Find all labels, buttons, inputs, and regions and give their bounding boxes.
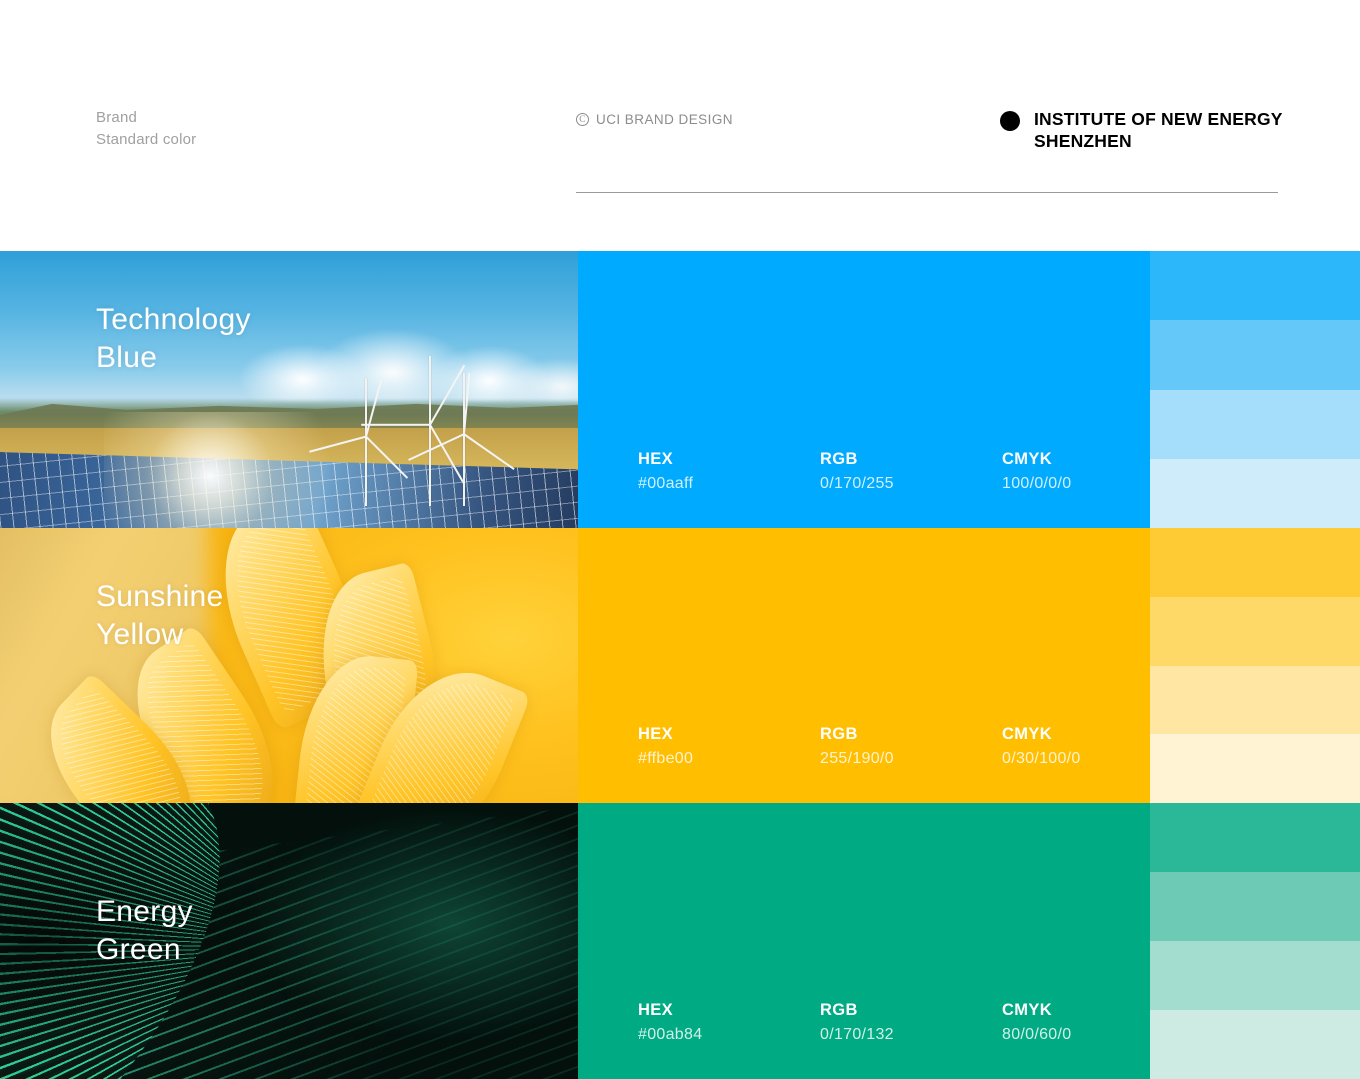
color-photo-technology-blue: Technology Blue [0,251,578,528]
institute-logo: INSTITUTE OF NEW ENERGY SHENZHEN [1000,108,1283,153]
brand-title-line1: Brand [96,107,196,129]
spec-rgb-value: 0/170/255 [820,472,1002,496]
page-header: Brand Standard color C UCI BRAND DESIGN … [0,0,1360,251]
spec-rgb: RGB 0/170/255 [820,448,1002,496]
copyright-text: UCI BRAND DESIGN [596,112,733,127]
spec-rgb-label: RGB [820,999,1002,1023]
spec-rgb-label: RGB [820,723,1002,747]
copyright-notice: C UCI BRAND DESIGN [576,112,733,127]
color-row-technology-blue: Technology Blue HEX #00aaff RGB 0/170/25… [0,251,1360,528]
color-name-line1: Sunshine [96,578,224,616]
spec-cmyk-value: 80/0/60/0 [1002,1023,1184,1047]
spec-hex: HEX #00ab84 [638,999,820,1047]
spec-hex-label: HEX [638,723,820,747]
brand-title-block: Brand Standard color [96,107,196,151]
tint-swatch[interactable] [1150,872,1360,941]
color-name-line1: Technology [96,301,251,339]
spec-hex: HEX #ffbe00 [638,723,820,771]
color-swatch-energy-green[interactable]: HEX #00ab84 RGB 0/170/132 CMYK 80/0/60/0 [578,803,1150,1079]
copyright-icon: C [576,113,589,126]
spec-rgb-value: 255/190/0 [820,747,1002,771]
spec-hex-label: HEX [638,448,820,472]
color-name-sunshine-yellow: Sunshine Yellow [96,578,224,655]
tint-swatch[interactable] [1150,251,1360,320]
color-name-line2: Blue [96,339,251,377]
spec-cmyk-label: CMYK [1002,999,1184,1023]
vignette-art [0,803,578,1079]
color-name-line2: Yellow [96,616,224,654]
color-swatch-sunshine-yellow[interactable]: HEX #ffbe00 RGB 255/190/0 CMYK 0/30/100/… [578,528,1150,803]
spec-rgb-value: 0/170/132 [820,1023,1002,1047]
spec-hex-value: #00aaff [638,472,820,496]
spec-hex-value: #ffbe00 [638,747,820,771]
tint-swatch[interactable] [1150,597,1360,666]
tint-swatch[interactable] [1150,528,1360,597]
color-name-energy-green: Energy Green [96,893,193,970]
institute-name-line1: INSTITUTE OF NEW ENERGY [1034,108,1283,130]
wind-turbine-icon [451,373,477,506]
color-specs: HEX #00ab84 RGB 0/170/132 CMYK 80/0/60/0 [638,999,1184,1047]
spec-hex-label: HEX [638,999,820,1023]
solar-wind-photo-art [0,251,578,528]
color-rows: Technology Blue HEX #00aaff RGB 0/170/25… [0,251,1360,1079]
color-name-technology-blue: Technology Blue [96,301,251,378]
spec-hex-value: #00ab84 [638,1023,820,1047]
color-name-line1: Energy [96,893,193,931]
spec-cmyk-label: CMYK [1002,723,1184,747]
clouds-art [231,329,578,401]
logo-dot-icon [1000,111,1020,131]
tint-swatch[interactable] [1150,320,1360,389]
spec-cmyk-label: CMYK [1002,448,1184,472]
wind-turbine-icon [353,378,379,505]
color-row-sunshine-yellow: Sunshine Yellow HEX #ffbe00 RGB 255/190/… [0,528,1360,803]
spec-rgb: RGB 0/170/132 [820,999,1002,1047]
brand-title-line2: Standard color [96,129,196,151]
color-name-line2: Green [96,931,193,969]
color-specs: HEX #00aaff RGB 0/170/255 CMYK 100/0/0/0 [638,448,1184,496]
green-fronds-photo-art [0,803,578,1079]
institute-logo-text: INSTITUTE OF NEW ENERGY SHENZHEN [1034,108,1283,153]
spec-cmyk: CMYK 80/0/60/0 [1002,999,1184,1047]
spec-rgb-label: RGB [820,448,1002,472]
color-photo-sunshine-yellow: Sunshine Yellow [0,528,578,803]
wind-turbine-icon [413,356,447,506]
spec-cmyk-value: 0/30/100/0 [1002,747,1184,771]
tint-swatch[interactable] [1150,803,1360,872]
spec-cmyk-value: 100/0/0/0 [1002,472,1184,496]
color-photo-energy-green: Energy Green [0,803,578,1079]
color-specs: HEX #ffbe00 RGB 255/190/0 CMYK 0/30/100/… [638,723,1184,771]
spec-rgb: RGB 255/190/0 [820,723,1002,771]
color-row-energy-green: Energy Green HEX #00ab84 RGB 0/170/132 C… [0,803,1360,1079]
spec-hex: HEX #00aaff [638,448,820,496]
spec-cmyk: CMYK 0/30/100/0 [1002,723,1184,771]
brand-color-standard-page: Brand Standard color C UCI BRAND DESIGN … [0,0,1360,1079]
header-divider [576,192,1278,193]
spec-cmyk: CMYK 100/0/0/0 [1002,448,1184,496]
institute-name-line2: SHENZHEN [1034,130,1283,152]
sunflower-photo-art [0,528,578,803]
color-swatch-technology-blue[interactable]: HEX #00aaff RGB 0/170/255 CMYK 100/0/0/0 [578,251,1150,528]
